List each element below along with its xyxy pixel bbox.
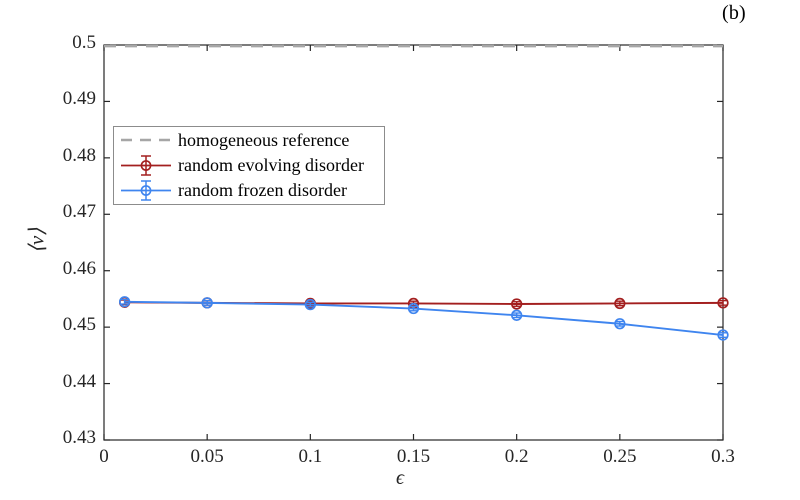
legend-item-homogeneous-reference: homogeneous reference — [114, 127, 384, 152]
plot-axes-frame — [104, 45, 723, 440]
y-tick-label: 0.48 — [10, 145, 96, 167]
legend-swatch-errorbar-blue-icon — [118, 178, 174, 202]
legend-label: random frozen disorder — [174, 181, 347, 199]
x-tick-label: 0.3 — [683, 446, 763, 468]
x-tick-label: 0 — [64, 446, 144, 468]
axis-ticks — [104, 45, 723, 440]
y-tick-label: 0.49 — [10, 88, 96, 110]
legend-label: random evolving disorder — [174, 156, 364, 174]
legend-item-random-evolving-disorder: random evolving disorder — [114, 152, 384, 177]
x-tick-label: 0.2 — [477, 446, 557, 468]
x-tick-label: 0.25 — [580, 446, 660, 468]
y-tick-label: 0.46 — [10, 258, 96, 280]
chart-canvas — [0, 0, 800, 500]
y-tick-label: 0.44 — [10, 371, 96, 393]
legend-swatch-dashed-icon — [118, 128, 174, 152]
legend-swatch-errorbar-red-icon — [118, 153, 174, 177]
x-tick-label: 0.15 — [374, 446, 454, 468]
y-tick-label: 0.47 — [10, 201, 96, 223]
legend-item-random-frozen-disorder: random frozen disorder — [114, 177, 384, 202]
legend-label: homogeneous reference — [174, 131, 349, 149]
figure-panel-b: (b) 0.430.440.450.460.470.480.490.5 00.0… — [0, 0, 800, 500]
y-axis-label: ⟨v⟩ — [25, 196, 50, 286]
y-tick-label: 0.5 — [10, 32, 96, 54]
chart-legend: homogeneous reference random evolving di… — [113, 126, 385, 205]
x-axis-label: ϵ — [0, 467, 800, 490]
y-tick-label: 0.45 — [10, 314, 96, 336]
x-tick-label: 0.05 — [167, 446, 247, 468]
x-tick-label: 0.1 — [270, 446, 350, 468]
